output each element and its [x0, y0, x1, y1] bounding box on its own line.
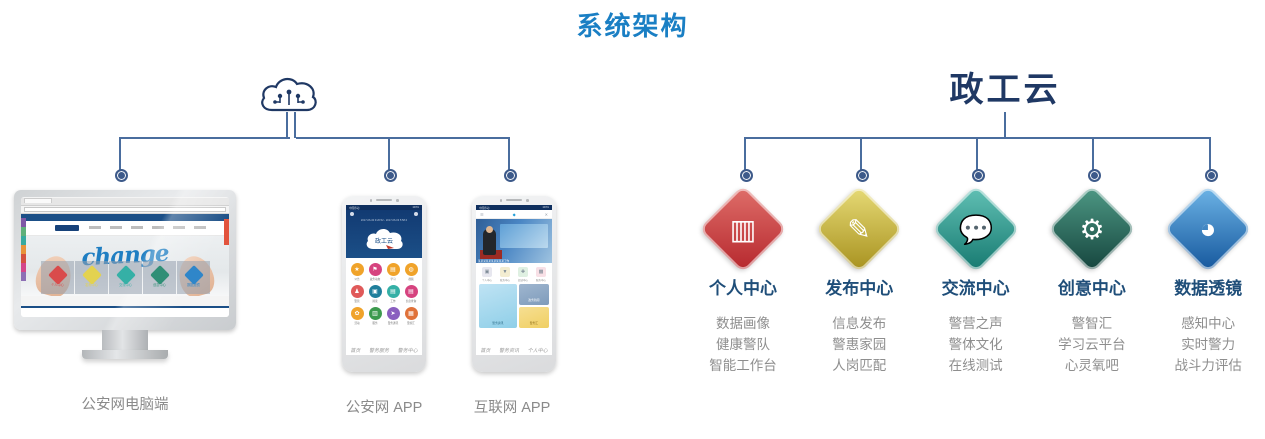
browser-tabbar [21, 198, 229, 206]
connector-drop-right-4 [1092, 137, 1094, 171]
phone2-quick-icon[interactable]: ▼政务中心 [500, 267, 510, 282]
connector-node-right-2 [856, 169, 869, 182]
phone2-photo-screenwall [500, 224, 548, 248]
phone1-app-glyph: ▤ [387, 285, 400, 298]
phone2-close-icon[interactable]: ✕ [545, 212, 548, 217]
phone2-appbar[interactable]: ☰ ◆ ✕ [476, 210, 552, 219]
connector-drop-left-2 [388, 137, 390, 171]
phone2-card-secondary[interactable]: 政务新闻 [519, 284, 549, 305]
connector-horizontal-left-2 [296, 137, 510, 139]
site-tile-icon [82, 265, 102, 285]
phone1-app-glyph: ▦ [405, 307, 418, 320]
phone2-hero-photo: 某某某某某某某某某某工作 [476, 219, 552, 263]
center-sub-item[interactable]: 健康警队 [698, 334, 788, 355]
phone1-app-glyph: ✿ [351, 307, 364, 320]
center-glyph: ▥ [712, 198, 774, 260]
document-gear-icon[interactable]: ⚙ [1048, 185, 1136, 273]
phone2-tabbar[interactable]: 首页警务资讯个人中心 [476, 346, 552, 355]
connector-vertical-left-trunk-2 [294, 112, 296, 138]
phone1-cloud-logo: 政工云 [364, 227, 404, 256]
phone2-quick-icon[interactable]: ✚阅读中心 [518, 267, 528, 282]
center-sub-item[interactable]: 学习云平台 [1047, 334, 1137, 355]
center-block[interactable]: ◕数据透镜感知中心实时警力战斗力评估 [1163, 198, 1253, 376]
phone1-app-icon[interactable]: ♟警营 [349, 285, 365, 303]
site-nav[interactable] [89, 226, 206, 229]
tabbar-item[interactable]: 首页 [480, 347, 490, 354]
phone1-header: 2017-06-30 9:20:52 - 2017-06-03 5:58:4 政… [346, 210, 422, 258]
phone1-app-icon[interactable]: ★公告 [349, 263, 365, 281]
phone-sensor-icon [526, 199, 529, 202]
phone1-app-label: 信息查询 [406, 299, 416, 303]
site-tile[interactable]: 发布中心 [75, 261, 108, 294]
site-logo [55, 225, 79, 231]
phone2-card-tertiary-title: 警务汇 [519, 321, 549, 325]
svg-text:政工云: 政工云 [375, 237, 393, 245]
center-sub-item[interactable]: 在线测试 [931, 355, 1021, 376]
center-sub-item[interactable]: 智能工作台 [698, 355, 788, 376]
connector-drop-right-2 [860, 137, 862, 171]
center-title: 个人中心 [698, 274, 788, 299]
phone2-quick-label: 政务中心 [500, 278, 510, 282]
site-nav-item[interactable] [194, 226, 206, 229]
center-title: 交流中心 [931, 274, 1021, 299]
center-glyph: ⚙ [1061, 198, 1123, 260]
center-glyph: ✎ [828, 198, 890, 260]
center-sub-item[interactable]: 数据画像 [698, 313, 788, 334]
site-tile-icon [150, 265, 170, 285]
center-title: 数据透镜 [1163, 274, 1253, 299]
phone2-card-primary[interactable]: 警务资讯 [479, 284, 517, 328]
tabbar-item[interactable]: 首页 [350, 347, 360, 354]
site-strip-segment[interactable] [21, 245, 26, 254]
connector-drop-right-3 [976, 137, 978, 171]
site-tile-icon [116, 265, 136, 285]
phone1-app-icon[interactable]: ▤学习 [385, 263, 401, 281]
chat-bubble-icon[interactable]: 💬 [932, 185, 1020, 273]
phone1-app-label: 阅读 [372, 299, 377, 303]
site-nav-item[interactable] [173, 226, 185, 229]
browser-urlbar [21, 207, 229, 214]
connector-drop-left-3 [508, 137, 510, 171]
phone1-app-label: 警察汇 [407, 321, 415, 325]
browser-tab [24, 198, 52, 203]
phone2-quick-label: 个人中心 [482, 278, 492, 282]
center-title: 创意中心 [1047, 274, 1137, 299]
phone1-app-icon[interactable]: ▥服务 [367, 307, 383, 325]
phone2-carrier: 中国移动 [479, 206, 489, 210]
phone1-app-glyph: ➤ [387, 307, 400, 320]
phone1-app-icon[interactable]: ➤警务通讯 [385, 307, 401, 325]
page-title: 系统架构 [0, 6, 1265, 43]
edit-pencil-icon[interactable]: ✎ [815, 185, 903, 273]
phone2-card-area[interactable]: 警务资讯 政务新闻 警务汇 [476, 284, 552, 328]
center-sub-item[interactable]: 警体文化 [931, 334, 1021, 355]
center-title: 发布中心 [814, 274, 904, 299]
phone-speaker-icon [376, 199, 392, 201]
site-hero: change 个人中心发布中心交流中心创意中心数据透镜 [21, 236, 229, 296]
desktop-monitor[interactable]: change 个人中心发布中心交流中心创意中心数据透镜 [14, 190, 236, 370]
center-sub-item[interactable]: 战斗力评估 [1163, 355, 1253, 376]
phone2-card-primary-title: 警务资讯 [479, 321, 517, 325]
phone2-quick-icon[interactable]: ▣个人中心 [482, 267, 492, 282]
connector-node-right-3 [972, 169, 985, 182]
site-topbar [21, 214, 229, 221]
phone-camera-icon [370, 199, 373, 202]
phone1-app-label: 警务通讯 [388, 321, 398, 325]
phone-earpiece [342, 199, 426, 202]
tabbar-item[interactable]: 警务中心 [398, 347, 418, 354]
phone1-header-bar[interactable] [346, 210, 422, 218]
phone2-quick-label: 服务中心 [536, 278, 546, 282]
phone2-menu-icon[interactable]: ☰ [480, 212, 484, 217]
site-color-strip [21, 218, 26, 281]
phone-police-network[interactable]: 中国移动 100% 2017-06-30 9:20:52 - 2017-06-0… [342, 196, 426, 372]
center-sub-item[interactable]: 实时警力 [1163, 334, 1253, 355]
site-tile-icon [48, 265, 68, 285]
connector-vertical-right-trunk [1004, 112, 1006, 138]
connector-node-left-3 [504, 169, 517, 182]
phone1-app-label: 工作 [390, 299, 395, 303]
phone1-app-icon[interactable]: ▣阅读 [367, 285, 383, 303]
site-header [21, 221, 229, 236]
phone1-app-glyph: ◍ [405, 263, 418, 276]
phone1-app-label: 警营 [354, 299, 359, 303]
connector-drop-left-1 [119, 137, 121, 171]
phone2-card-secondary-title: 政务新闻 [519, 298, 549, 302]
connector-drop-right-5 [1209, 137, 1211, 171]
phone1-app-glyph: ⚑ [369, 263, 382, 276]
connector-node-left-1 [115, 169, 128, 182]
monitor-bezel: change 个人中心发布中心交流中心创意中心数据透镜 [14, 190, 236, 330]
phone1-app-label: 公告 [354, 277, 359, 281]
folders-icon[interactable]: ▥ [699, 185, 787, 273]
phone1-tabbar[interactable]: 首页警务服务警务中心 [346, 346, 422, 355]
phone2-card-tertiary[interactable]: 警务汇 [519, 307, 549, 328]
connector-drop-right-1 [744, 137, 746, 171]
phone1-app-icon[interactable]: ◍视频 [403, 263, 419, 281]
center-sub-item[interactable]: 警智汇 [1047, 313, 1137, 334]
phone1-app-label: 活动 [354, 321, 359, 325]
center-block[interactable]: 💬交流中心警营之声警体文化在线测试 [931, 198, 1021, 376]
center-glyph: ◕ [1177, 198, 1239, 260]
phone1-app-glyph: ♟ [351, 285, 364, 298]
phone1-battery: 100% [412, 206, 419, 209]
phone1-app-icon[interactable]: ▤工作 [385, 285, 401, 303]
center-sub-list: 信息发布警惠家园人岗匹配 [814, 313, 904, 376]
site-strip-segment[interactable] [21, 218, 26, 227]
tabbar-item[interactable]: 警务服务 [369, 347, 389, 354]
brand-logo: 政工云 [905, 62, 1105, 111]
center-sub-list: 数据画像健康警队智能工作台 [698, 313, 788, 376]
site-strip-segment[interactable] [21, 263, 26, 272]
phone1-carrier: 中国移动 [349, 206, 359, 210]
site-tile[interactable]: 交流中心 [109, 261, 142, 294]
phone1-screen: 中国移动 100% 2017-06-30 9:20:52 - 2017-06-0… [346, 205, 422, 355]
monitor-stand-base [82, 350, 168, 359]
phone2-quick-glyph: ▼ [500, 267, 510, 277]
connector-node-right-1 [740, 169, 753, 182]
site-strip-segment[interactable] [21, 227, 26, 236]
phone2-quick-label: 阅读中心 [518, 278, 528, 282]
site-nav-item[interactable] [131, 226, 143, 229]
site-tile[interactable]: 数据透镜 [177, 261, 210, 294]
client-label-internet-app: 互联网 APP [452, 396, 572, 417]
site-nav-item[interactable] [89, 226, 101, 229]
phone1-app-icon[interactable]: ▦警察汇 [403, 307, 419, 325]
phone1-menu-icon[interactable] [350, 212, 354, 216]
center-sub-item[interactable]: 人岗匹配 [814, 355, 904, 376]
center-sub-item[interactable]: 信息发布 [814, 313, 904, 334]
connector-node-left-2 [384, 169, 397, 182]
center-sub-item[interactable]: 感知中心 [1163, 313, 1253, 334]
phone-camera-icon [500, 199, 503, 202]
center-glyph: 💬 [945, 198, 1007, 260]
phone1-app-icon[interactable]: ⚑政务动态 [367, 263, 383, 281]
phone1-app-icon[interactable]: ▤信息查询 [403, 285, 419, 303]
client-label-desktop: 公安网电脑端 [35, 393, 215, 414]
phone2-quick-glyph: ✚ [518, 267, 528, 277]
phone1-app-label: 视频 [408, 277, 413, 281]
site-tile-row[interactable]: 个人中心发布中心交流中心创意中心数据透镜 [41, 261, 210, 294]
cloud-network-icon [258, 72, 320, 116]
center-block[interactable]: ▥个人中心数据画像健康警队智能工作台 [698, 198, 788, 376]
connector-node-right-4 [1088, 169, 1101, 182]
center-block[interactable]: ⚙创意中心警智汇学习云平台心灵氧吧 [1047, 198, 1137, 376]
brand-logo-text: 政工云 [950, 71, 1061, 109]
monitor-stand-neck [102, 330, 148, 352]
phone2-quick-glyph: ▣ [482, 267, 492, 277]
tabbar-item[interactable]: 个人中心 [528, 347, 548, 354]
phone1-dates: 2017-06-30 9:20:52 - 2017-06-03 5:58:4 [346, 219, 422, 222]
phone2-photo-person-head [486, 226, 493, 233]
phone1-app-grid[interactable]: ★公告⚑政务动态▤学习◍视频♟警营▣阅读▤工作▤信息查询✿活动▥服务➤警务通讯▦… [346, 258, 422, 330]
phone2-screen: 中国移动 100% ☰ ◆ ✕ 某某某某某某某某某某工作 ▣个人中心▼政务中心✚… [476, 205, 552, 355]
center-sub-list: 警智汇学习云平台心灵氧吧 [1047, 313, 1137, 376]
phone1-app-glyph: ★ [351, 263, 364, 276]
phone-earpiece [472, 199, 556, 202]
connector-vertical-left-trunk [286, 112, 288, 138]
tabbar-item[interactable]: 警务资讯 [499, 347, 519, 354]
connector-node-right-5 [1205, 169, 1218, 182]
phone1-app-glyph: ▤ [387, 263, 400, 276]
site-strip-segment[interactable] [21, 272, 26, 281]
phone1-app-glyph: ▣ [369, 285, 382, 298]
center-sub-list: 警营之声警体文化在线测试 [931, 313, 1021, 376]
phone-internet[interactable]: 中国移动 100% ☰ ◆ ✕ 某某某某某某某某某某工作 ▣个人中心▼政务中心✚… [472, 196, 556, 372]
site-strip-segment[interactable] [21, 254, 26, 263]
phone2-photo-caption: 某某某某某某某某某某工作 [478, 259, 509, 263]
phone2-logo-icon: ◆ [513, 212, 516, 217]
phone1-app-label: 政务动态 [370, 277, 380, 281]
browser-url-input[interactable] [24, 207, 226, 212]
site-strip-segment[interactable] [21, 236, 26, 245]
phone1-app-label: 服务 [372, 321, 377, 325]
phone2-quick-icons[interactable]: ▣个人中心▼政务中心✚阅读中心▩服务中心 [476, 263, 552, 284]
center-block[interactable]: ✎发布中心信息发布警惠家园人岗匹配 [814, 198, 904, 376]
phone1-app-icon[interactable]: ✿活动 [349, 307, 365, 325]
site-footer [21, 306, 229, 317]
connector-horizontal-left [119, 137, 290, 139]
client-label-police-app: 公安网 APP [324, 396, 444, 417]
site-tile[interactable]: 创意中心 [143, 261, 176, 294]
center-sub-item[interactable]: 心灵氧吧 [1047, 355, 1137, 376]
phone1-app-glyph: ▥ [369, 307, 382, 320]
phone1-settings-icon[interactable] [414, 212, 418, 216]
site-tile-icon [184, 265, 204, 285]
phone2-quick-glyph: ▩ [536, 267, 546, 277]
center-sub-list: 感知中心实时警力战斗力评估 [1163, 313, 1253, 376]
site-nav-item[interactable] [152, 226, 164, 229]
phone2-quick-icon[interactable]: ▩服务中心 [536, 267, 546, 282]
phone-speaker-icon [506, 199, 522, 201]
center-sub-item[interactable]: 警惠家园 [814, 334, 904, 355]
site-nav-item[interactable] [110, 226, 122, 229]
phone2-battery: 100% [542, 206, 549, 209]
phone-sensor-icon [396, 199, 399, 202]
site-tile[interactable]: 个人中心 [41, 261, 74, 294]
pie-chart-icon[interactable]: ◕ [1164, 185, 1252, 273]
center-sub-item[interactable]: 警营之声 [931, 313, 1021, 334]
phone1-app-glyph: ▤ [405, 285, 418, 298]
monitor-screen: change 个人中心发布中心交流中心创意中心数据透镜 [21, 197, 229, 317]
phone1-app-label: 学习 [390, 277, 395, 281]
site-right-tab[interactable] [224, 219, 229, 245]
